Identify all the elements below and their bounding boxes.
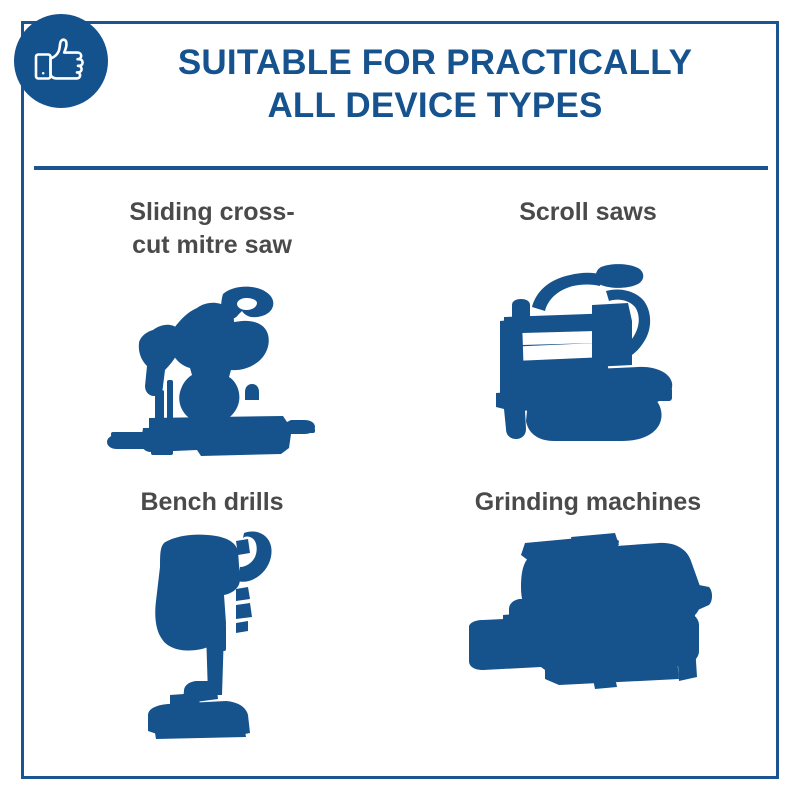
device-grid: Sliding cross- cut mitre saw <box>24 180 776 776</box>
thumbs-up-icon <box>32 32 90 90</box>
page-title-line-2: ALL DEVICE TYPES <box>267 86 602 125</box>
mitre-saw-silhouette-icon <box>105 282 320 457</box>
device-label-line-2: cut mitre saw <box>132 231 292 259</box>
device-art-grinding-machine <box>400 519 776 777</box>
device-label-scroll-saw: Scroll saws <box>473 196 703 229</box>
device-cell-mitre-saw: Sliding cross- cut mitre saw <box>24 180 400 478</box>
device-art-mitre-saw <box>24 261 400 478</box>
device-label-grinding-machine: Grinding machines <box>473 486 703 519</box>
device-label-line-1: Scroll saws <box>519 198 657 226</box>
device-cell-scroll-saw: Scroll saws <box>400 180 776 478</box>
device-label-line-1: Bench drills <box>140 488 283 516</box>
device-art-scroll-saw <box>400 229 776 479</box>
header: SUITABLE FOR PRACTICALLY ALL DEVICE TYPE… <box>115 42 755 127</box>
page-title: SUITABLE FOR PRACTICALLY ALL DEVICE TYPE… <box>115 42 755 127</box>
device-cell-grinding-machine: Grinding machines <box>400 478 776 776</box>
device-label-bench-drill: Bench drills <box>97 486 327 519</box>
device-label-mitre-saw: Sliding cross- cut mitre saw <box>97 196 327 261</box>
thumbs-up-badge <box>14 14 108 108</box>
grinding-machine-silhouette-icon <box>463 527 713 692</box>
scroll-saw-silhouette-icon <box>488 261 688 446</box>
header-divider <box>34 166 768 170</box>
page-title-line-1: SUITABLE FOR PRACTICALLY <box>178 43 692 82</box>
device-label-line-1: Grinding machines <box>475 488 701 516</box>
device-art-bench-drill <box>24 519 400 777</box>
device-label-line-1: Sliding cross- <box>129 198 294 226</box>
infographic-panel: SUITABLE FOR PRACTICALLY ALL DEVICE TYPE… <box>0 0 800 800</box>
bench-drill-silhouette-icon <box>140 527 285 742</box>
device-cell-bench-drill: Bench drills <box>24 478 400 776</box>
